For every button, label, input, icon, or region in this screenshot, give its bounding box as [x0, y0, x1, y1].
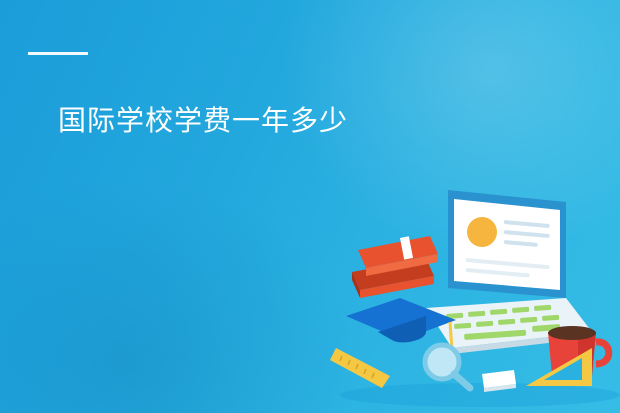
screen-circle-avatar: [467, 217, 497, 247]
books-stack: [352, 236, 438, 298]
background-wash: [0, 173, 360, 413]
accent-rule: [28, 52, 88, 55]
page-title: 国际学校学费一年多少: [58, 104, 348, 138]
banner: 国际学校学费一年多少: [0, 0, 620, 413]
education-desk-illustration: [330, 180, 620, 413]
ruler: [330, 348, 390, 388]
mug-coffee: [548, 326, 596, 340]
laptop-screen: [454, 199, 560, 290]
ruler-body: [330, 348, 390, 388]
mug-handle: [596, 342, 609, 364]
